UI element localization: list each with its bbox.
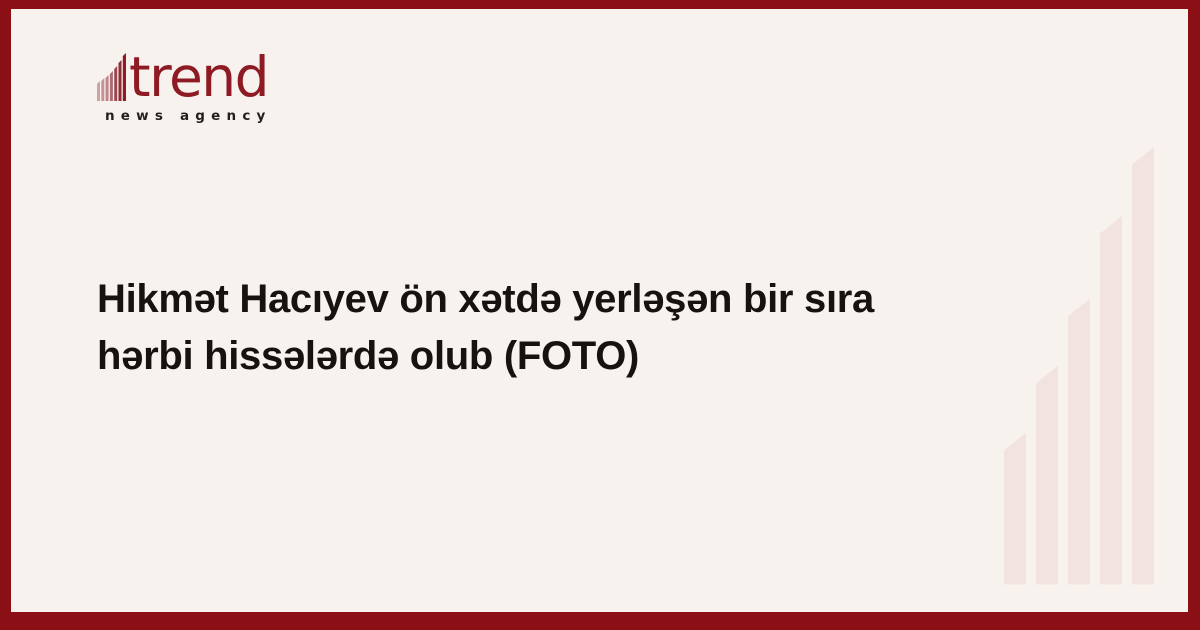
card-canvas: trend news agency Hikmət Hacıyev ön xətd… bbox=[11, 9, 1188, 612]
page-title: Hikmət Hacıyev ön xətdə yerləşən bir sır… bbox=[97, 271, 967, 385]
social-card-frame: trend news agency Hikmət Hacıyev ön xətd… bbox=[0, 0, 1200, 630]
skyline-bars-icon bbox=[97, 53, 127, 101]
logo-wordmark: trend bbox=[129, 52, 268, 103]
logo-row: trend bbox=[97, 45, 397, 103]
trend-logo[interactable]: trend news agency bbox=[97, 45, 397, 124]
skyline-bars-watermark-icon bbox=[988, 9, 1188, 612]
logo-tagline: news agency bbox=[105, 108, 397, 124]
